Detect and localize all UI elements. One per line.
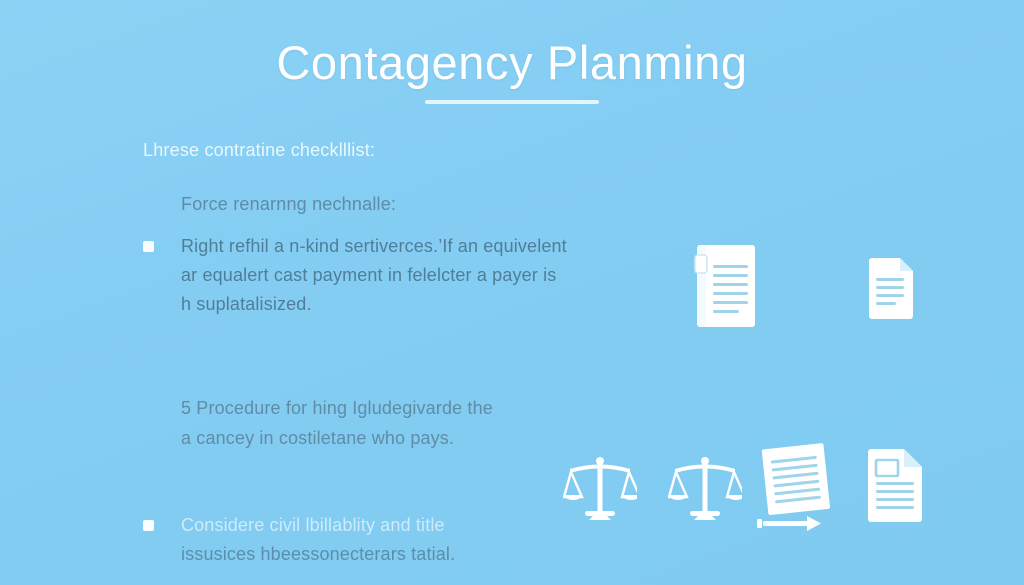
page-title: Contagency Planming bbox=[0, 34, 1024, 92]
document-folded-corner-icon bbox=[865, 258, 915, 322]
clipboard-document-icon bbox=[693, 243, 757, 329]
list-item: Right refhil a n-kind sertiverces.’If an… bbox=[143, 232, 703, 319]
balance-scale-icon-2 bbox=[668, 455, 742, 523]
bullet-2-text: Considere civil lbillablity and title is… bbox=[181, 511, 455, 569]
icon-row-top bbox=[680, 238, 940, 338]
document-outline-folded-icon bbox=[865, 448, 925, 524]
document-with-arrow-icon bbox=[753, 442, 841, 534]
bullet-2-line-2: issusices hbeessonecterars tatial. bbox=[181, 544, 455, 564]
sub-heading: Force renarnng nechnalle: bbox=[181, 192, 703, 216]
bullet-2-line-1: Considere civil lbillablity and title bbox=[181, 515, 445, 535]
paragraph-line-2: a cancey in costiletane who pays. bbox=[181, 428, 454, 448]
intro-line: Lhrese contratine checklllist: bbox=[143, 138, 703, 162]
bullet-1-line-2: ar equalert cast payment in felelcter a … bbox=[181, 265, 556, 285]
bullet-square-icon bbox=[143, 520, 154, 531]
slide-canvas: Contagency Planming Lhrese contratine ch… bbox=[0, 0, 1024, 585]
title-block: Contagency Planming bbox=[0, 34, 1024, 104]
bullet-square-icon bbox=[143, 241, 154, 252]
title-underline-rule bbox=[425, 100, 599, 104]
bullet-1-line-3: h suplatalisized. bbox=[181, 294, 312, 314]
bullet-1-text: Right refhil a n-kind sertiverces.’If an… bbox=[181, 232, 567, 319]
bullet-1-line-1: Right refhil a n-kind sertiverces.’If an… bbox=[181, 236, 567, 256]
balance-scale-icon bbox=[563, 455, 637, 523]
icon-row-bottom bbox=[555, 440, 955, 540]
paragraph-line-1: 5 Procedure for hing Igludegivarde the bbox=[181, 398, 493, 418]
